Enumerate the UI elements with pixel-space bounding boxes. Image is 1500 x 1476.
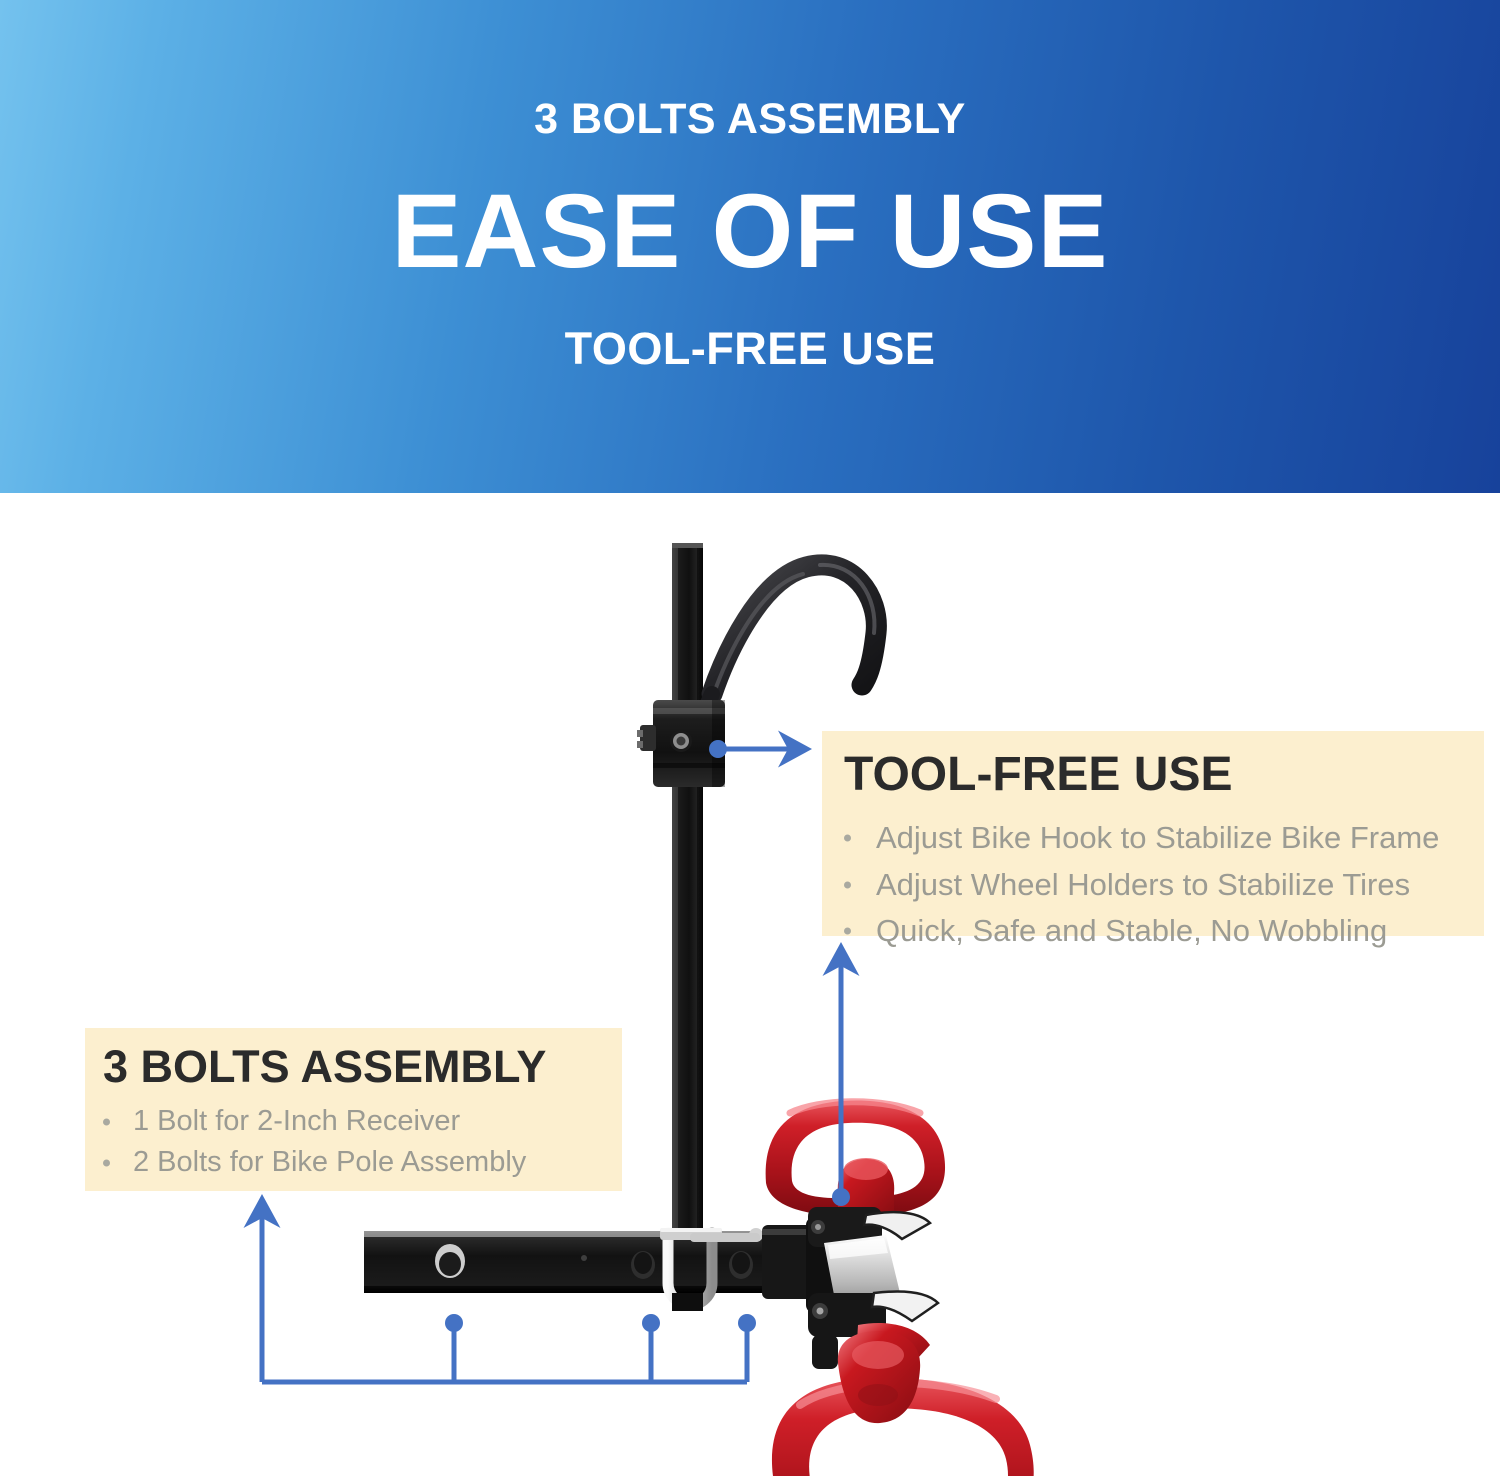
list-item: Quick, Safe and Stable, No Wobbling: [844, 911, 1484, 951]
list-item-label: 2 Bolts for Bike Pole Assembly: [133, 1146, 526, 1178]
list-item: Adjust Bike Hook to Stabilize Bike Frame: [844, 818, 1484, 858]
bullet-dot-icon: [844, 834, 851, 841]
list-item-label: Quick, Safe and Stable, No Wobbling: [876, 913, 1387, 948]
bullet-dot-icon: [844, 928, 851, 935]
list-item-label: Adjust Wheel Holders to Stabilize Tires: [876, 867, 1410, 902]
bullet-dot-icon: [103, 1118, 110, 1125]
leader-three-bolts: [262, 1200, 756, 1382]
list-item: 1 Bolt for 2-Inch Receiver: [103, 1103, 622, 1140]
callout-tool-free-use: TOOL-FREE USE Adjust Bike Hook to Stabil…: [822, 731, 1484, 936]
list-item-label: 1 Bolt for 2-Inch Receiver: [133, 1105, 460, 1137]
bullet-dot-icon: [103, 1159, 110, 1166]
callout-title-three-bolts-assembly: 3 BOLTS ASSEMBLY: [103, 1044, 622, 1089]
callout-bullet-list-three-bolts-assembly: 1 Bolt for 2-Inch Receiver 2 Bolts for B…: [103, 1103, 622, 1181]
list-item: Adjust Wheel Holders to Stabilize Tires: [844, 865, 1484, 905]
leader-hook-clamp: [709, 740, 806, 758]
infographic-page: 3 BOLTS ASSEMBLY EASE OF USE TOOL-FREE U…: [0, 0, 1500, 1476]
leader-wheel-holder: [832, 948, 850, 1206]
callout-three-bolts-assembly: 3 BOLTS ASSEMBLY 1 Bolt for 2-Inch Recei…: [85, 1028, 622, 1191]
list-item: 2 Bolts for Bike Pole Assembly: [103, 1144, 622, 1181]
list-item-label: Adjust Bike Hook to Stabilize Bike Frame: [876, 820, 1439, 855]
callout-title-tool-free-use: TOOL-FREE USE: [844, 751, 1484, 799]
callout-bullet-list-tool-free-use: Adjust Bike Hook to Stabilize Bike Frame…: [844, 818, 1484, 951]
bullet-dot-icon: [844, 881, 851, 888]
